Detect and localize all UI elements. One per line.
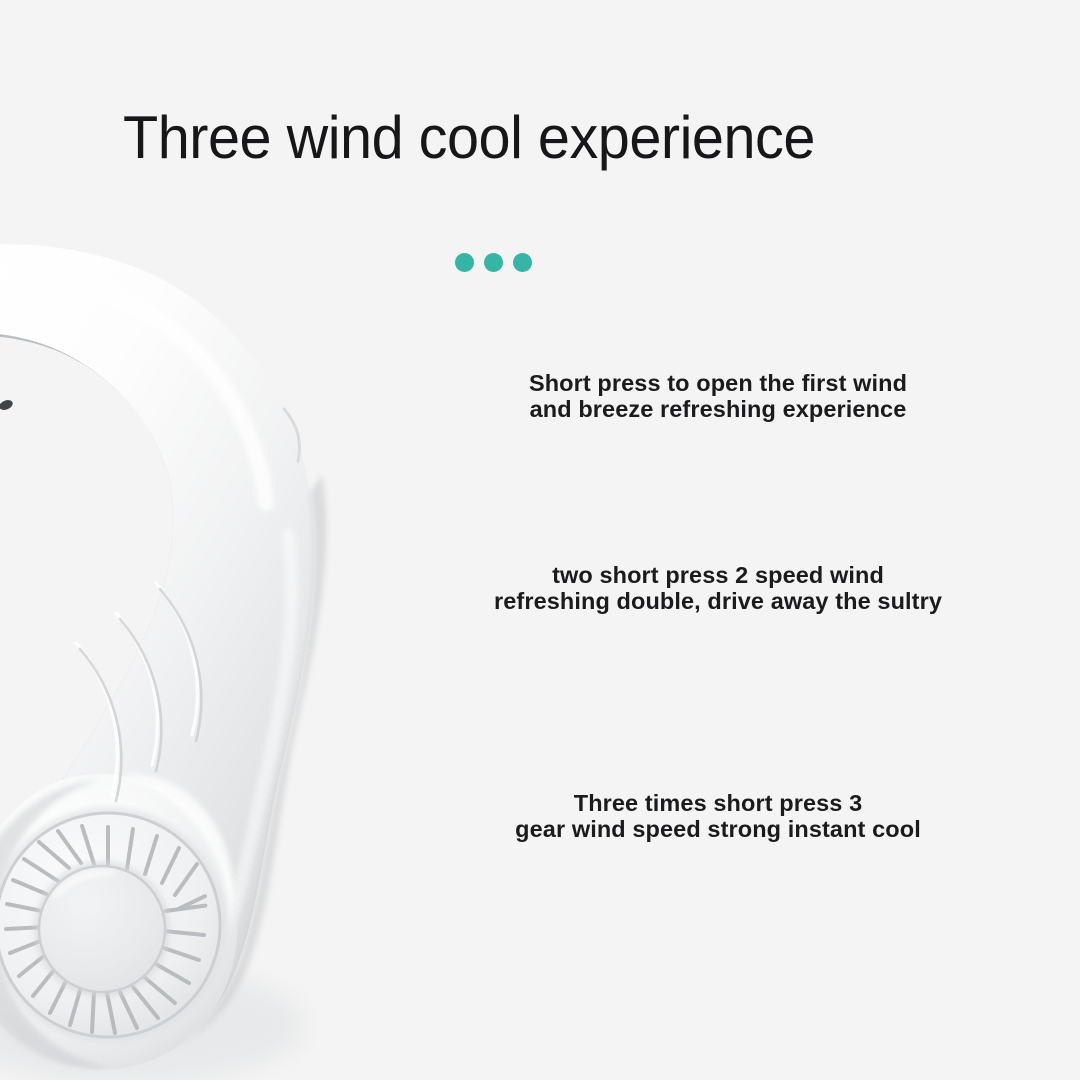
dot-icon: [513, 253, 532, 272]
section-divider-dots: [455, 253, 532, 272]
dot-icon: [455, 253, 474, 272]
dot-icon: [484, 253, 503, 272]
feature-line: two short press 2 speed wind: [418, 562, 1018, 588]
feature-line: gear wind speed strong instant cool: [418, 816, 1018, 842]
feature-text-wind-speed-2: two short press 2 speed wind refreshing …: [418, 562, 1018, 614]
feature-line: Short press to open the first wind: [418, 370, 1018, 396]
product-image-neck-fan: [0, 235, 510, 1080]
feature-line: Three times short press 3: [418, 790, 1018, 816]
page-title: Three wind cool experience: [123, 106, 910, 169]
feature-text-wind-speed-1: Short press to open the first wind and b…: [418, 370, 1018, 422]
feature-line: and breeze refreshing experience: [418, 396, 1018, 422]
feature-line: refreshing double, drive away the sultry: [418, 588, 1018, 614]
feature-text-wind-speed-3: Three times short press 3 gear wind spee…: [418, 790, 1018, 842]
promo-banner: Three wind cool experience Short press t…: [0, 0, 1080, 1080]
